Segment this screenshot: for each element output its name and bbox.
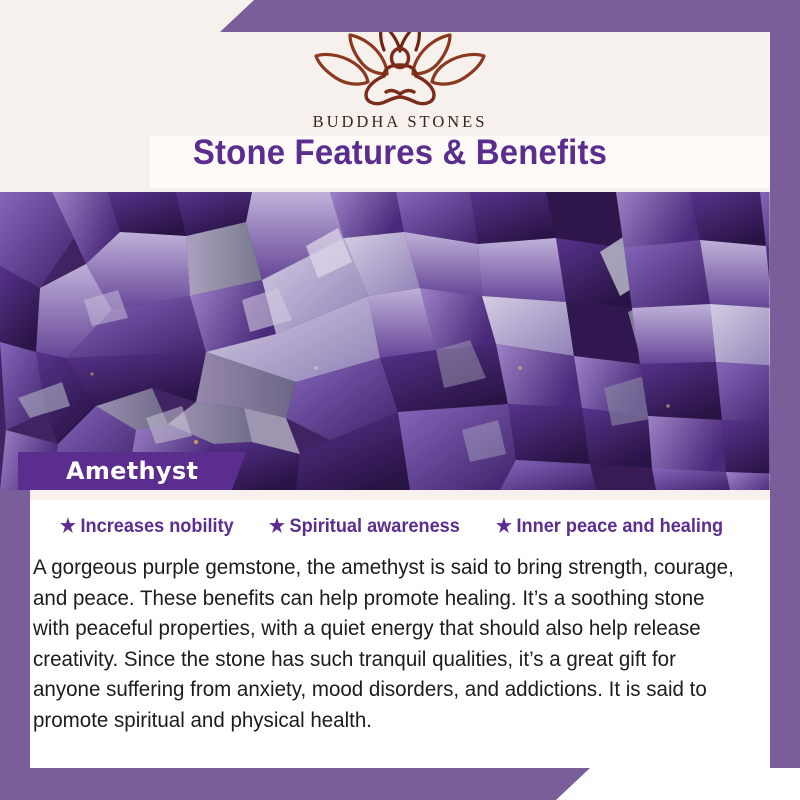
stone-name-label: Amethyst	[18, 457, 198, 485]
benefit-item: ★ Increases nobility	[60, 515, 234, 538]
lotus-meditation-figure-icon	[312, 20, 488, 108]
content-panel: ★ Increases nobility ★ Spiritual awarene…	[0, 490, 800, 800]
benefit-label: Increases nobility	[80, 515, 233, 538]
benefits-list: ★ Increases nobility ★ Spiritual awarene…	[0, 515, 800, 538]
stone-name-badge: Amethyst	[18, 452, 246, 490]
star-icon: ★	[269, 517, 285, 536]
amethyst-hero-image	[0, 192, 800, 490]
brand-name: BUDDHA STONES	[313, 112, 488, 132]
brand-logo: BUDDHA STONES	[0, 20, 800, 132]
description-text: A gorgeous purple gemstone, the amethyst…	[33, 552, 740, 735]
benefit-label: Inner peace and healing	[516, 515, 723, 538]
benefit-item: ★ Spiritual awareness	[269, 515, 460, 538]
page-title: Stone Features & Benefits	[24, 133, 776, 173]
header: BUDDHA STONES Stone Features & Benefits	[0, 0, 800, 192]
star-icon: ★	[496, 517, 512, 536]
divider-strip	[0, 490, 800, 500]
amethyst-crystal-illustration	[0, 192, 800, 490]
benefit-label: Spiritual awareness	[289, 515, 459, 538]
star-icon: ★	[60, 517, 76, 536]
benefit-item: ★ Inner peace and healing	[496, 515, 723, 538]
